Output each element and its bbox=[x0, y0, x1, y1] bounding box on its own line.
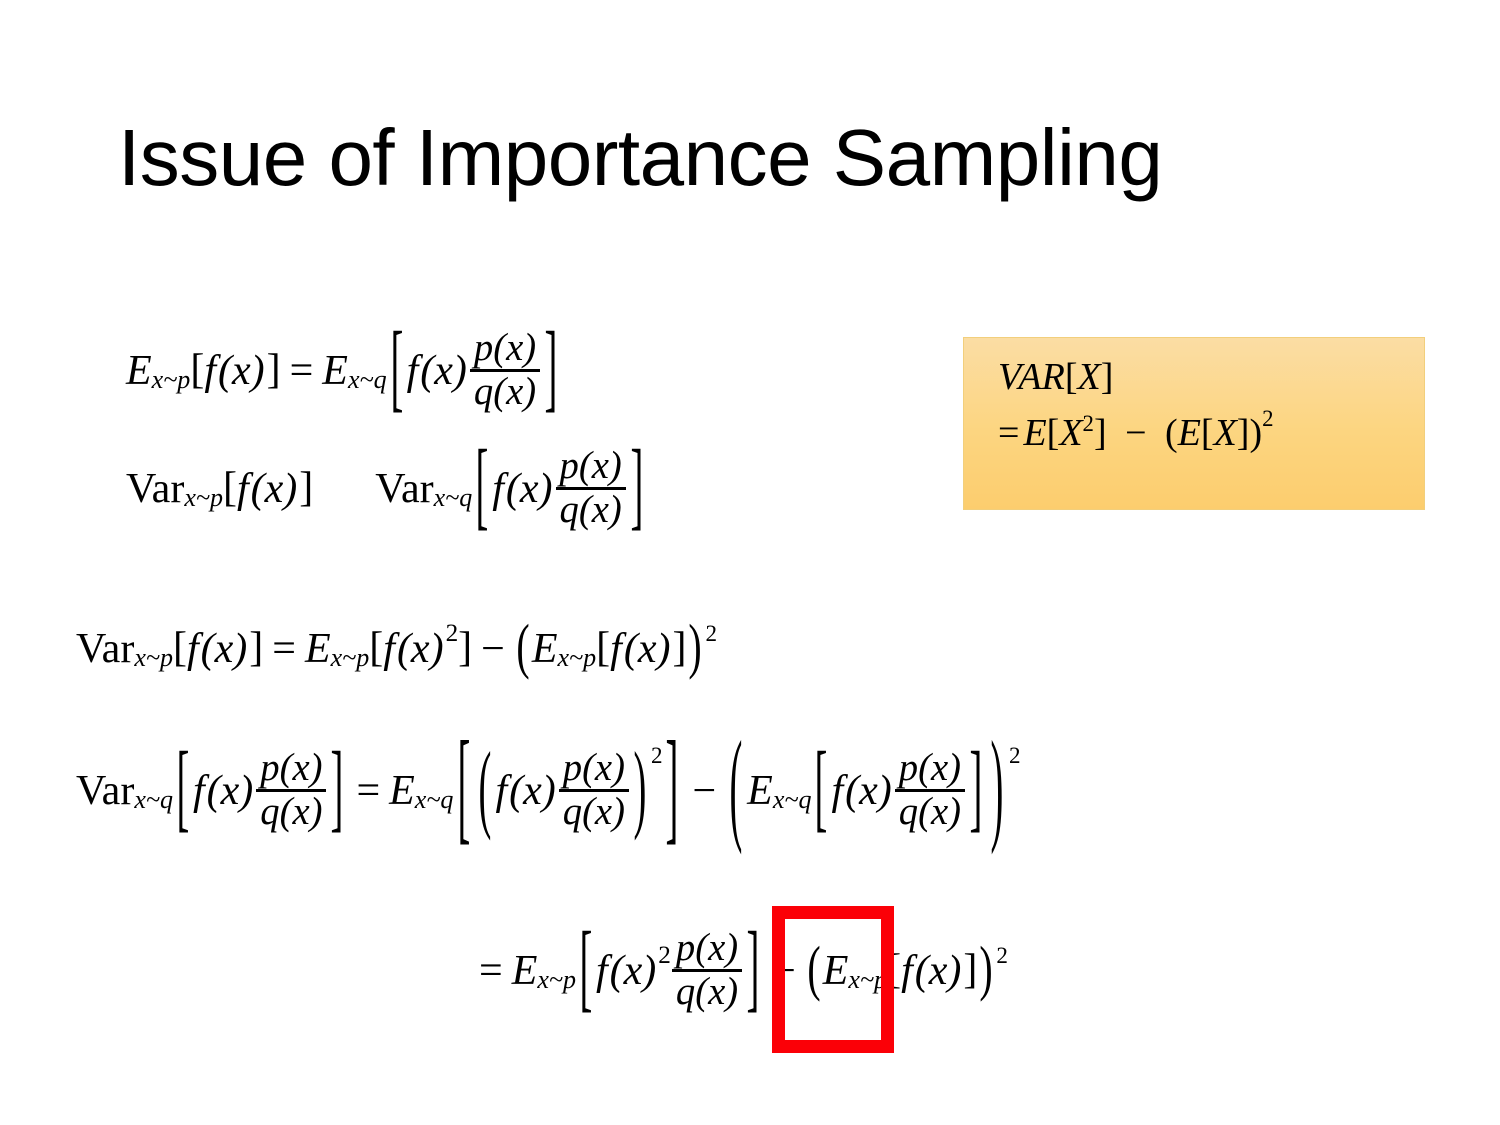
squared-expectation-group: (E[X])2 bbox=[1165, 414, 1273, 452]
E-subscript: x~p bbox=[331, 645, 370, 671]
paren-close: ) bbox=[980, 947, 993, 996]
f-symbol: f bbox=[187, 628, 199, 670]
E-symbol: E bbox=[322, 350, 348, 392]
importance-weight-fraction: p(x) q(x) bbox=[470, 329, 540, 411]
equation-importance-sampling: Ex~p[f(x)] = Ex~q[f(x) p(x) q(x) ] bbox=[126, 330, 561, 412]
exponent-two: 2 bbox=[651, 744, 663, 767]
f-symbol: f bbox=[495, 770, 507, 812]
equation-variance-definition-p: Varx~p[f(x)] = Ex~p[f(x)2] − (Ex~p[f(x)]… bbox=[76, 628, 716, 670]
Var-subscript: x~q bbox=[434, 485, 473, 511]
VAR-symbol: VAR bbox=[998, 356, 1065, 398]
minus-sign: − bbox=[683, 770, 725, 812]
bracket-close: ] bbox=[299, 472, 313, 506]
Var-subscript: x~p bbox=[134, 645, 173, 671]
fraction-denominator: q(x) bbox=[256, 792, 326, 832]
exponent-two: 2 bbox=[1262, 408, 1273, 431]
equation-variance-result: = Ex~p[f(x)2 p(x) q(x) ] − (Ex~p[f(x)])2 bbox=[470, 930, 1007, 1012]
squared-expectation-group: (Ex~p[f(x)])2 bbox=[805, 950, 1007, 992]
Var-symbol: Var bbox=[375, 468, 433, 510]
f-symbol: f bbox=[407, 350, 419, 392]
variance-under-q: Varx~q[f(x) p(x) q(x) ] bbox=[375, 448, 646, 530]
bracket-close: ] bbox=[963, 954, 977, 988]
paren-close: ) bbox=[1249, 418, 1262, 448]
fraction-numerator: p(x) bbox=[470, 329, 540, 369]
bracket-open: [ bbox=[1047, 418, 1060, 448]
bracket-open: [ bbox=[815, 752, 828, 831]
f-argument: (x) bbox=[622, 628, 673, 670]
E-subscript: x~q bbox=[348, 367, 387, 393]
Var-symbol: Var bbox=[76, 628, 134, 670]
f-argument: (x) bbox=[249, 468, 300, 510]
bracket-close: ] bbox=[970, 752, 983, 831]
bracket-close: ] bbox=[267, 354, 281, 388]
f-argument: (x) bbox=[395, 628, 446, 670]
bracket-open: [ bbox=[177, 752, 190, 831]
minus-sign: − bbox=[1116, 412, 1155, 454]
paren-close: ) bbox=[633, 752, 646, 831]
bracket-close: ] bbox=[672, 632, 686, 666]
bracket-close: ] bbox=[249, 632, 263, 666]
fraction-numerator: p(x) bbox=[895, 749, 965, 789]
fraction-denominator: q(x) bbox=[895, 792, 965, 832]
fraction-denominator: q(x) bbox=[470, 372, 540, 412]
importance-weight-fraction: p(x) q(x) bbox=[556, 447, 626, 529]
E-subscript: x~q bbox=[415, 787, 454, 813]
equals-sign: = bbox=[347, 770, 389, 812]
E-subscript: x~p bbox=[848, 967, 887, 993]
E-symbol: E bbox=[823, 950, 849, 992]
f-argument: (x) bbox=[216, 350, 267, 392]
equals-sign: = bbox=[998, 412, 1019, 454]
paren-open: ( bbox=[807, 947, 820, 996]
X-symbol: X bbox=[1059, 412, 1082, 454]
bracket-close: ] bbox=[1237, 418, 1250, 448]
bracket-close: ] bbox=[1101, 362, 1114, 392]
exponent-two: 2 bbox=[658, 943, 671, 968]
f-argument: (x) bbox=[199, 628, 250, 670]
bracket-open: [ bbox=[173, 632, 187, 666]
Var-subscript: x~p bbox=[184, 485, 223, 511]
fraction-denominator: q(x) bbox=[559, 792, 629, 832]
f-argument: (x) bbox=[205, 770, 256, 812]
f-symbol: f bbox=[596, 950, 608, 992]
X-symbol: X bbox=[1077, 356, 1100, 398]
bracket-open: [ bbox=[1065, 362, 1078, 392]
E-subscript: x~q bbox=[773, 787, 812, 813]
bracket-open: [ bbox=[580, 932, 593, 1011]
bracket-open: [ bbox=[887, 954, 901, 988]
exponent-two: 2 bbox=[1083, 413, 1094, 436]
f-symbol: f bbox=[901, 950, 913, 992]
bracket-close: ] bbox=[747, 932, 760, 1011]
paren-open: ( bbox=[1165, 418, 1178, 448]
variance-identity-callout: VAR[X] =E[X2] − (E[X])2 bbox=[963, 337, 1425, 510]
E-symbol: E bbox=[1178, 414, 1201, 452]
Var-subscript: x~q bbox=[134, 787, 173, 813]
f-symbol: f bbox=[492, 468, 504, 510]
paren-open: ( bbox=[516, 625, 529, 674]
Var-symbol: Var bbox=[76, 770, 134, 812]
f-symbol: f bbox=[610, 628, 622, 670]
fraction-denominator: q(x) bbox=[672, 972, 742, 1012]
highlighted-importance-weight-fraction: p(x) q(x) bbox=[672, 929, 742, 1011]
bracket-open: [ bbox=[458, 741, 471, 842]
bracket-close: ] bbox=[331, 752, 344, 831]
f-symbol: f bbox=[193, 770, 205, 812]
equals-sign: = bbox=[281, 350, 323, 392]
f-argument: (x) bbox=[913, 950, 964, 992]
E-symbol: E bbox=[389, 770, 415, 812]
f-symbol: f bbox=[204, 350, 216, 392]
bracket-open: [ bbox=[369, 632, 383, 666]
E-subscript: x~p bbox=[558, 645, 597, 671]
bracket-close: ] bbox=[666, 741, 679, 842]
importance-weight-fraction: p(x) q(x) bbox=[895, 749, 965, 831]
f-argument: (x) bbox=[507, 770, 558, 812]
bracket-close: ] bbox=[545, 332, 558, 411]
squared-expectation-group: (Ex~q[f(x) p(x) q(x) ])2 bbox=[725, 750, 1019, 832]
bracket-open: [ bbox=[1201, 418, 1214, 448]
fraction-numerator: p(x) bbox=[556, 447, 626, 487]
equation-variance-definition-q: Varx~q[f(x) p(x) q(x) ] = Ex~q[ (f(x) p(… bbox=[76, 750, 1020, 832]
equals-sign: = bbox=[470, 950, 512, 992]
exponent-two: 2 bbox=[1009, 744, 1021, 767]
E-symbol: E bbox=[305, 628, 331, 670]
paren-close: ) bbox=[991, 741, 1004, 842]
exponent-two: 2 bbox=[996, 944, 1008, 967]
fraction-numerator: p(x) bbox=[256, 749, 326, 789]
Var-symbol: Var bbox=[126, 468, 184, 510]
variance-under-p: Varx~p[f(x)] bbox=[126, 468, 313, 510]
f-symbol: f bbox=[383, 628, 395, 670]
callout-line-1: VAR[X] bbox=[998, 358, 1424, 396]
importance-weight-fraction: p(x) q(x) bbox=[256, 749, 326, 831]
bracket-open: [ bbox=[476, 450, 489, 529]
bracket-close: ] bbox=[458, 632, 472, 666]
minus-sign: − bbox=[763, 950, 805, 992]
E-subscript: x~p bbox=[152, 367, 191, 393]
E-symbol: E bbox=[747, 770, 773, 812]
bracket-close: ] bbox=[630, 450, 643, 529]
f-argument: (x) bbox=[504, 468, 555, 510]
bracket-open: [ bbox=[190, 354, 204, 388]
f-argument: (x) bbox=[843, 770, 894, 812]
E-symbol: E bbox=[126, 350, 152, 392]
E-symbol: E bbox=[512, 950, 538, 992]
bracket-open: [ bbox=[223, 472, 237, 506]
fraction-numerator: p(x) bbox=[559, 749, 629, 789]
exponent-two: 2 bbox=[446, 621, 459, 646]
E-subscript: x~p bbox=[537, 967, 576, 993]
X-symbol: X bbox=[1214, 414, 1237, 452]
paren-open: ( bbox=[730, 741, 743, 842]
squared-weighted-f-group: (f(x) p(x) q(x) )2 bbox=[475, 750, 661, 832]
bracket-open: [ bbox=[596, 632, 610, 666]
equation-variance-comparison: Varx~p[f(x)] Varx~q[f(x) p(x) q(x) ] bbox=[126, 448, 647, 530]
callout-line-2: =E[X2] − (E[X])2 bbox=[998, 414, 1424, 452]
fraction-denominator: q(x) bbox=[556, 490, 626, 530]
paren-open: ( bbox=[479, 752, 492, 831]
E-symbol: E bbox=[1023, 412, 1046, 454]
page-title: Issue of Importance Sampling bbox=[118, 118, 1162, 198]
f-symbol: f bbox=[237, 468, 249, 510]
lhs-expectation: Ex~p[f(x)] bbox=[126, 350, 281, 392]
squared-expectation-group: (Ex~p[f(x)])2 bbox=[514, 628, 716, 670]
rhs-expectation: Ex~q[f(x) p(x) q(x) ] bbox=[322, 330, 561, 412]
bracket-close: ] bbox=[1094, 418, 1107, 448]
bracket-open: [ bbox=[390, 332, 403, 411]
f-argument: (x) bbox=[608, 950, 659, 992]
minus-sign: − bbox=[472, 628, 514, 670]
importance-weight-fraction: p(x) q(x) bbox=[559, 749, 629, 831]
equals-sign: = bbox=[263, 628, 305, 670]
f-argument: (x) bbox=[418, 350, 469, 392]
exponent-two: 2 bbox=[705, 622, 717, 645]
fraction-numerator: p(x) bbox=[672, 929, 742, 969]
f-symbol: f bbox=[831, 770, 843, 812]
paren-close: ) bbox=[689, 625, 702, 674]
E-symbol: E bbox=[532, 628, 558, 670]
